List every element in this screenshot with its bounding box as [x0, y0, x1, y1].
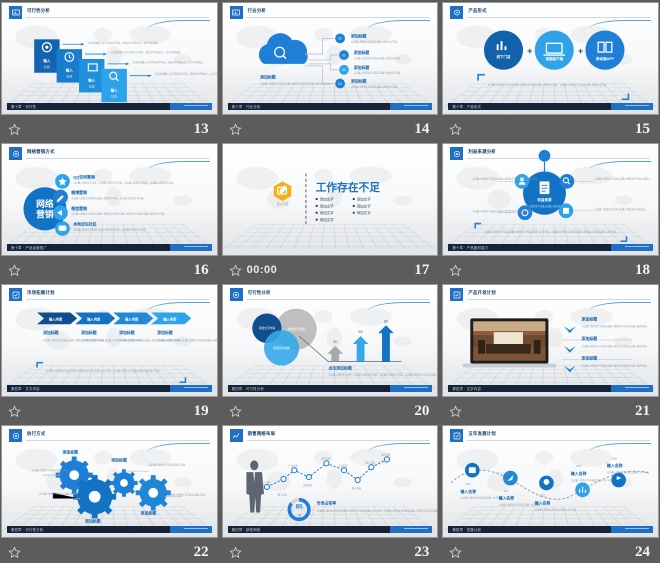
caption-title: 点击添加标题	[328, 365, 351, 370]
donut-value: 85	[295, 503, 303, 510]
bullet-6: 添加文字	[356, 203, 370, 208]
favorite-star-icon[interactable]	[8, 123, 21, 136]
slide-footer-bar: 第四章 · 销售网络	[228, 526, 433, 533]
businessman-silhouette	[246, 460, 264, 512]
step-sub-3: 标题	[89, 83, 95, 88]
slide-footer-bar: 第十章 · 产品形式	[448, 103, 653, 110]
bar-value-1: 30	[333, 339, 338, 344]
item-title-2: 微博营销	[70, 190, 87, 195]
item-body-2: 点击输入您的文字内容点击输入您的文字内容	[353, 56, 400, 60]
thumbnail-caption: 24	[442, 538, 659, 563]
note-3: 点击添加输入文字内容文字内容，添加文字内容以上，文字内容添加。	[133, 60, 205, 64]
five-year-timeline: 2016 输入名称 点击输入您的文字内容点击输入文字内容 2017 输入名称 点…	[443, 426, 658, 537]
gear-body-2: 点击输入您的文字内容点击输入内容	[39, 492, 77, 496]
item-title-4: 添加标题	[350, 79, 366, 84]
favorite-star-icon[interactable]	[8, 546, 21, 559]
caption-body: 点击输入您的文字内容，点击输入您的文字内容，点击输入您的文字内容，点击输入您的文…	[328, 372, 437, 376]
step-sub-4: 标题	[111, 93, 117, 98]
note-3: 点击输入您的文字内容点击输入您的文字内容点击输入。	[595, 176, 653, 180]
slide-thumbnail-14[interactable]: 行业分析 添加标题 添加标题 点击输入您的文字内容点击输入您的文字内容点击输入您…	[222, 2, 439, 115]
slide-footer-bar: 第四章 · 文字内容	[7, 385, 212, 392]
arrow-label-3: 输入内容	[125, 317, 139, 322]
item-body-3: 点击输入您的文字内容点击输入您的文字内容点击输入您的内容。	[582, 364, 649, 368]
bullet-3: 添加文字	[319, 210, 333, 215]
circle-label-1: 线下门店	[497, 54, 511, 59]
favorite-star-icon[interactable]	[449, 405, 462, 418]
year-2: 2017	[504, 491, 510, 493]
cloud-caption-body: 点击输入您的文字内容点击输入您的文字内容点击输入您的文字内容。	[260, 82, 332, 86]
slide-cell-18[interactable]: 利益来源分析 利益来源 点击输入您的文字内容点击输入您的文字内容 点击输入您的文…	[442, 143, 659, 284]
badge-num-2: 02	[342, 53, 346, 57]
slide-thumbnail-19[interactable]: 市场拓展计划 输入内容 输入内容 输入内容 输入内容 添加标题 点击输入您的文字…	[1, 284, 218, 397]
footer-label: 第十章 · 产品盈利能力	[452, 245, 488, 250]
body-3: 点击输入您的文字内容点击输入文字内容	[535, 507, 577, 511]
footer-label: 第四章 · 文字内容	[452, 386, 481, 391]
center-line-1: 网络	[36, 198, 54, 209]
name-3: 输入名称	[535, 501, 551, 506]
donut-body: 点击输入您的文字内容点击输入您的文字内容点击输入文字内容，点击输入您的文字内容点…	[316, 508, 437, 512]
thumbnail-caption: 22	[1, 538, 218, 563]
page-number: 18	[635, 262, 650, 279]
footer-accent	[611, 103, 653, 110]
footer-accent	[170, 244, 212, 251]
item-title-2: 添加标题	[582, 336, 598, 341]
point-label-7: 输入内容	[351, 486, 361, 490]
item-title-3: 微信营销	[70, 206, 87, 211]
center-line-2: 营销	[36, 209, 54, 220]
gear-title-4: 添加标题	[141, 510, 157, 515]
footer-label: 第四章 · 发展计划	[452, 527, 481, 532]
footer-accent	[170, 103, 212, 110]
cloud-branch-diagram: 添加标题 添加标题 点击输入您的文字内容点击输入您的文字内容点击输入您的文字内容…	[223, 3, 438, 114]
note-4: 点击添加输入文字内容文字内容，添加文字内容以上，文字内容添加。	[155, 72, 216, 76]
bullet-5: 添加文字	[356, 196, 370, 201]
favorite-star-icon[interactable]	[8, 264, 21, 277]
item-body-4: 点击输入您的文字内容点击输入您的文字内容	[350, 84, 397, 88]
chevron-process: 输入内容 输入内容 输入内容 输入内容 添加标题 点击输入您的文字内容点击输入您…	[2, 285, 217, 396]
favorite-star-icon[interactable]	[229, 546, 242, 559]
point-label-9: 杭州分部	[381, 452, 391, 456]
thumbnail-caption: 23	[222, 538, 439, 563]
body-1: 点击输入您的文字内容点击输入文字内容	[461, 496, 503, 500]
step-label-1: 输入	[43, 58, 50, 63]
bullet-2: 添加文字	[319, 203, 333, 208]
point-label-8: 输入内容	[365, 460, 375, 464]
gears-diagram: 添加标题 点击输入您的文字内容点击输入内容 添加标题 点击输入您的文字内容点击输…	[2, 426, 217, 537]
year-3: 2018	[540, 496, 546, 498]
item-title-2: 添加标题	[353, 50, 369, 55]
arrow-label-1: 输入内容	[49, 317, 63, 322]
body-paragraph: 点击输入您的文字内容点击输入您的文字内容点击输入文字内容，点击输入您的文字内容点…	[484, 229, 619, 233]
item-body-1: 点击输入您的文字内容，点击输入您的文字内容，点击输入您的文字内容，点击输入您的文…	[73, 180, 175, 184]
center-label: 利益来源	[538, 197, 552, 202]
page-number: 13	[194, 121, 209, 138]
year-1: 2016	[466, 484, 472, 486]
three-circle-formula: 线下门店 + 电脑客户端 + 移动端APP 点击输入您的文字内容点击输入您的文字…	[443, 3, 658, 114]
year-4: 2019	[576, 466, 582, 468]
item-body-4: 点击输入您的文字内容点击输入您的文字内容，点击输入您的文字内容。	[73, 227, 147, 231]
gear-body-3: 点击输入您的文字内容点击输入内容	[148, 462, 186, 466]
plus-sign-2: +	[578, 46, 583, 56]
footer-accent	[170, 385, 212, 392]
slide-cell-17[interactable]: 加入不足 工作存在不足 添加文字 添加文字 添加文字 添加文字 添加文字 添加文…	[222, 143, 439, 284]
page-number: 20	[414, 403, 429, 420]
footer-accent	[170, 526, 212, 533]
footer-accent	[611, 385, 653, 392]
slide-cell-21[interactable]: 产品开发计划 添加标题 点击输入您的文字内容点击输入您的文字内容点击输入您的内容	[442, 284, 659, 425]
slide-cell-13[interactable]: 可行性分析 输入 标题 输入 标题 输入 标题	[1, 2, 218, 143]
work-shortcomings-layout: 加入不足 工作存在不足 添加文字 添加文字 添加文字 添加文字 添加文字 添加文…	[223, 144, 438, 255]
page-number: 15	[635, 121, 650, 138]
step-label-4: 输入	[111, 87, 118, 92]
step-sub-1: 标题	[44, 64, 50, 69]
slide-thumbnail-22[interactable]: 执行方式	[1, 425, 218, 538]
gear-title-2: 添加标题	[85, 518, 101, 523]
footer-label: 第十章 · 可行性	[11, 104, 36, 109]
donut-chart: 85 %	[289, 500, 309, 520]
body-5: 点击输入您的文字内容点击输入文字内容	[607, 470, 649, 474]
page-number: 19	[194, 403, 209, 420]
footer-label: 第四章 · 可行性分析	[11, 527, 43, 532]
checkmark-list: 添加标题 点击输入您的文字内容点击输入您的文字内容点击输入您的内容。 添加标题 …	[562, 316, 649, 377]
slide-footer-bar: 第四章 · 发展计划	[448, 526, 653, 533]
item-title-3: 添加标题	[353, 65, 369, 70]
badge-num-4: 04	[338, 82, 342, 86]
slide-footer-bar: 第十章 · 可行性	[7, 103, 212, 110]
footer-label: 第十章 · 行业分析	[232, 104, 261, 109]
page-number: 16	[194, 262, 209, 279]
circle-label-3: 移动端APP	[596, 56, 614, 61]
body-paragraph: 点击输入您的文字内容点击输入您的文字内容点击输入文字内容，点击输入您的文字内容点…	[46, 368, 162, 372]
item-title-1: 添加标题	[350, 33, 366, 38]
slide-footer-bar: 第四章 · 可行性分析	[228, 385, 433, 392]
slide-thumbnail-21[interactable]: 产品开发计划 添加标题 点击输入您的文字内容点击输入您的文字内容点击输入您的内容	[442, 284, 659, 397]
slide-footer-bar: 第十章 · 产品运营推广	[7, 244, 212, 251]
gear-body-4: 点击输入您的文字内容点击输入内容	[168, 493, 206, 497]
thumbnail-caption: 15	[442, 115, 659, 143]
point-label-3: 广州分部	[288, 463, 298, 467]
thumbnail-caption: 14	[222, 115, 439, 143]
page-number: 23	[414, 544, 429, 561]
note-1: 点击添加输入文字内容文字内容，添加文字内容以上，文字内容添加。	[88, 40, 160, 44]
step-label-2: 输入	[66, 68, 73, 73]
body-4: 点击输入您的文字内容点击输入文字内容	[571, 478, 613, 482]
note-1: 点击输入您的文字内容点击输入您的文字内容点击输入文字内容。	[473, 176, 540, 180]
footer-label: 第四章 · 可行性分析	[232, 386, 264, 391]
step-sub-2: 标题	[66, 74, 72, 79]
thumbnail-caption: 13	[1, 115, 218, 143]
badge-num-1: 01	[338, 37, 342, 41]
col-title-2: 添加标题	[81, 330, 97, 335]
gear-icon	[73, 475, 116, 518]
arrow-label-2: 输入内容	[87, 317, 101, 322]
slide-thumbnail-13[interactable]: 可行性分析 输入 标题 输入 标题 输入 标题	[1, 2, 218, 115]
footer-accent	[611, 244, 653, 251]
badge-num-3: 03	[342, 68, 346, 72]
note-2: 点击添加输入文字内容文字内容，添加文字内容以上，文字内容添加。	[110, 50, 182, 54]
thumbnail-caption: 19	[1, 397, 218, 425]
slide-cell-20[interactable]: 可行性分析 添加文字内容 添加文字内容 添加文字内容 30 50 80	[222, 284, 439, 425]
favorite-star-icon[interactable]	[449, 546, 462, 559]
favorite-star-icon[interactable]	[229, 123, 242, 136]
slide-thumbnail-15[interactable]: 产品形式 线下门店 + 电脑客户端 + 移动端APP 点击输入您	[442, 2, 659, 115]
item-title-1: 添加标题	[582, 316, 598, 321]
point-label-4: 深圳总部	[303, 483, 313, 487]
step-label-3: 输入	[88, 78, 95, 83]
slide-cell-23[interactable]: 销售网络布局 输入内容 输入内容 广州分部 深圳总部	[222, 425, 439, 563]
slide-footer-bar: 第四章 · 可行性分析	[7, 526, 212, 533]
thumbnail-caption: 18	[442, 256, 659, 284]
col-title-4: 添加标题	[157, 330, 173, 335]
gear-title-3: 添加标题	[111, 457, 127, 462]
year-5: 2020	[612, 458, 618, 460]
item-title-4: 本地论坛社区	[73, 222, 96, 227]
slide-thumbnail-17[interactable]: 加入不足 工作存在不足 添加文字 添加文字 添加文字 添加文字 添加文字 添加文…	[222, 143, 439, 256]
bubble-label-2: 添加文字内容	[287, 326, 305, 331]
gear-title-1: 添加标题	[62, 449, 78, 454]
profit-source-hub: 利益来源 点击输入您的文字内容点击输入您的文字内容 点击输入您的文字内容点击输入…	[443, 144, 658, 255]
donut-title: 市场占有率	[316, 501, 336, 506]
slide-cell-24[interactable]: 五年发展计划 2016 输入名称 点击输入您的文字内容点击输入文字内容 201	[442, 425, 659, 563]
bar-value-2: 50	[358, 329, 363, 334]
footer-accent	[390, 526, 432, 533]
footer-accent	[390, 103, 432, 110]
col-title-1: 添加标题	[43, 330, 59, 335]
favorite-star-icon[interactable]	[229, 264, 242, 277]
slide-cell-19[interactable]: 市场拓展计划 输入内容 输入内容 输入内容 输入内容 添加标题 点击输入您的文字…	[1, 284, 218, 425]
slide-thumbnail-18[interactable]: 利益来源分析 利益来源 点击输入您的文字内容点击输入您的文字内容 点击输入您的文…	[442, 143, 659, 256]
bar-chart-group: 30 50 80	[327, 318, 393, 361]
plus-sign-1: +	[528, 46, 533, 56]
slide-thumbnail-gallery: 可行性分析 输入 标题 输入 标题 输入 标题	[0, 0, 660, 563]
favorite-star-icon[interactable]	[449, 123, 462, 136]
slide-thumbnail-23[interactable]: 销售网络布局 输入内容 输入内容 广州分部 深圳总部	[222, 425, 439, 538]
item-body-1: 点击输入您的文字内容点击输入您的文字内容点击输入您的内容。	[582, 324, 649, 328]
body-paragraph: 点击输入您的文字内容点击输入您的文字内容点击输入您的文字内容，点击输入您的文字内…	[488, 83, 609, 87]
footer-label: 第十章 · 产品形式	[452, 104, 481, 109]
laptop-showcase: 添加标题 点击输入您的文字内容点击输入您的文字内容点击输入您的内容。 添加标题 …	[443, 285, 658, 396]
footer-label: 第四章 · 销售网络	[232, 527, 261, 532]
item-body-3: 点击输入您的文字内容点击输入您的文字内容点击输入您的文字内容点击输入您的文字内容…	[71, 212, 166, 216]
note-4: 点击输入您的文字内容点击输入您的文字内容点击。	[595, 207, 648, 211]
page-number: 24	[635, 544, 650, 561]
bullet-7: 添加文字	[356, 210, 370, 215]
favorite-star-icon[interactable]	[449, 264, 462, 277]
point-label-5: 北京分部	[320, 456, 330, 460]
staircase-diagram: 输入 标题 输入 标题 输入 标题 输入 标题 点击添加	[2, 3, 217, 114]
col-body-4: 点击输入您的文字内容点击输入您的文字内容点击输入内容。	[157, 338, 217, 342]
slide-footer-bar: 第十章 · 产品盈利能力	[448, 244, 653, 251]
arrow-label-4: 输入内容	[163, 317, 177, 322]
playback-timer: 00:00	[247, 264, 278, 276]
bullet-list-right: 添加文字 添加文字 添加文字	[352, 196, 370, 215]
cloud-label: 添加标题	[275, 64, 289, 69]
name-1: 输入名称	[461, 489, 477, 494]
thumbnail-caption: 21	[442, 397, 659, 425]
slide-cell-14[interactable]: 行业分析 添加标题 添加标题 点击输入您的文字内容点击输入您的文字内容点击输入您…	[222, 2, 439, 143]
thumbnail-caption: 20	[222, 397, 439, 425]
bar-value-3: 80	[383, 318, 388, 323]
item-body-2: 点击输入您的文字内容点击输入您的文字内容，点击输入您的文字内容。	[71, 196, 145, 200]
slide-thumbnail-24[interactable]: 五年发展计划 2016 输入名称 点击输入您的文字内容点击输入文字内容 201	[442, 425, 659, 538]
icon-caption: 加入不足	[276, 201, 288, 206]
name-2: 输入名称	[499, 496, 515, 501]
point-label-6: 上海分部	[338, 463, 348, 467]
page-number: 14	[414, 121, 429, 138]
item-body-2: 点击输入您的文字内容点击输入您的文字内容点击输入您的内容。	[582, 344, 649, 348]
footer-label: 第四章 · 文字内容	[11, 386, 40, 391]
slide-cell-22[interactable]: 执行方式	[1, 425, 218, 563]
footer-accent	[611, 526, 653, 533]
bullet-1: 添加文字	[319, 196, 333, 201]
gear-icon	[110, 469, 137, 497]
gear-icon	[136, 475, 171, 510]
slide-thumbnail-16[interactable]: 网络营销方式 网络 营销 QQ空间营销 点击输入您的文字内容，点击输入您的文字内…	[1, 143, 218, 256]
slide-footer-bar: 第四章 · 文字内容	[448, 385, 653, 392]
bubble-label-3: 添加文字内容	[273, 346, 290, 350]
col-title-3: 添加标题	[119, 330, 135, 335]
footer-accent	[390, 385, 432, 392]
flag-icon	[612, 473, 627, 488]
page-number: 22	[194, 544, 209, 561]
circle-label-2: 电脑客户端	[546, 56, 564, 61]
bullet-4: 添加文字	[319, 217, 333, 222]
cloud-caption-title: 添加标题	[260, 75, 276, 80]
item-title-3: 添加标题	[582, 356, 598, 361]
bullet-list-left: 添加文字 添加文字 添加文字 添加文字	[315, 196, 333, 222]
item-body-1: 点击输入您的文字内容点击输入您的文字内容	[350, 39, 397, 43]
slide-thumbnail-20[interactable]: 可行性分析 添加文字内容 添加文字内容 添加文字内容 30 50 80	[222, 284, 439, 397]
page-number: 21	[635, 403, 650, 420]
network-marketing-diagram: 网络 营销 QQ空间营销 点击输入您的文字内容，点击输入您的文字内容，点击输入您…	[2, 144, 217, 255]
slide-cell-16[interactable]: 网络营销方式 网络 营销 QQ空间营销 点击输入您的文字内容，点击输入您的文字内…	[1, 143, 218, 284]
favorite-star-icon[interactable]	[8, 405, 21, 418]
sales-network-map: 输入内容 输入内容 广州分部 深圳总部 北京分部 上海分部 输入内容 输入内容 …	[223, 426, 438, 537]
footer-label: 第十章 · 产品运营推广	[11, 245, 47, 250]
name-4: 输入名称	[571, 471, 587, 476]
slide-cell-15[interactable]: 产品形式 线下门店 + 电脑客户端 + 移动端APP 点击输入您	[442, 2, 659, 143]
thumbnail-caption: 16	[1, 256, 218, 284]
item-title-1: QQ空间营销	[73, 174, 95, 179]
venn-and-bar-chart: 添加文字内容 添加文字内容 添加文字内容 30 50 80 点击添加标题 点击输…	[223, 285, 438, 396]
item-body-3: 点击输入您的文字内容点击输入您的文字内容	[353, 71, 400, 75]
name-5: 输入名称	[607, 463, 623, 468]
slide-big-title: 工作存在不足	[315, 181, 380, 194]
bubble-label-1: 添加文字内容	[258, 326, 275, 330]
thumbnail-caption: 00:00 17	[222, 256, 439, 284]
page-number: 17	[414, 262, 429, 279]
slide-footer-bar: 第十章 · 行业分析	[228, 103, 433, 110]
donut-unit: %	[297, 512, 301, 517]
favorite-star-icon[interactable]	[229, 405, 242, 418]
point-label-2: 输入内容	[277, 493, 287, 497]
